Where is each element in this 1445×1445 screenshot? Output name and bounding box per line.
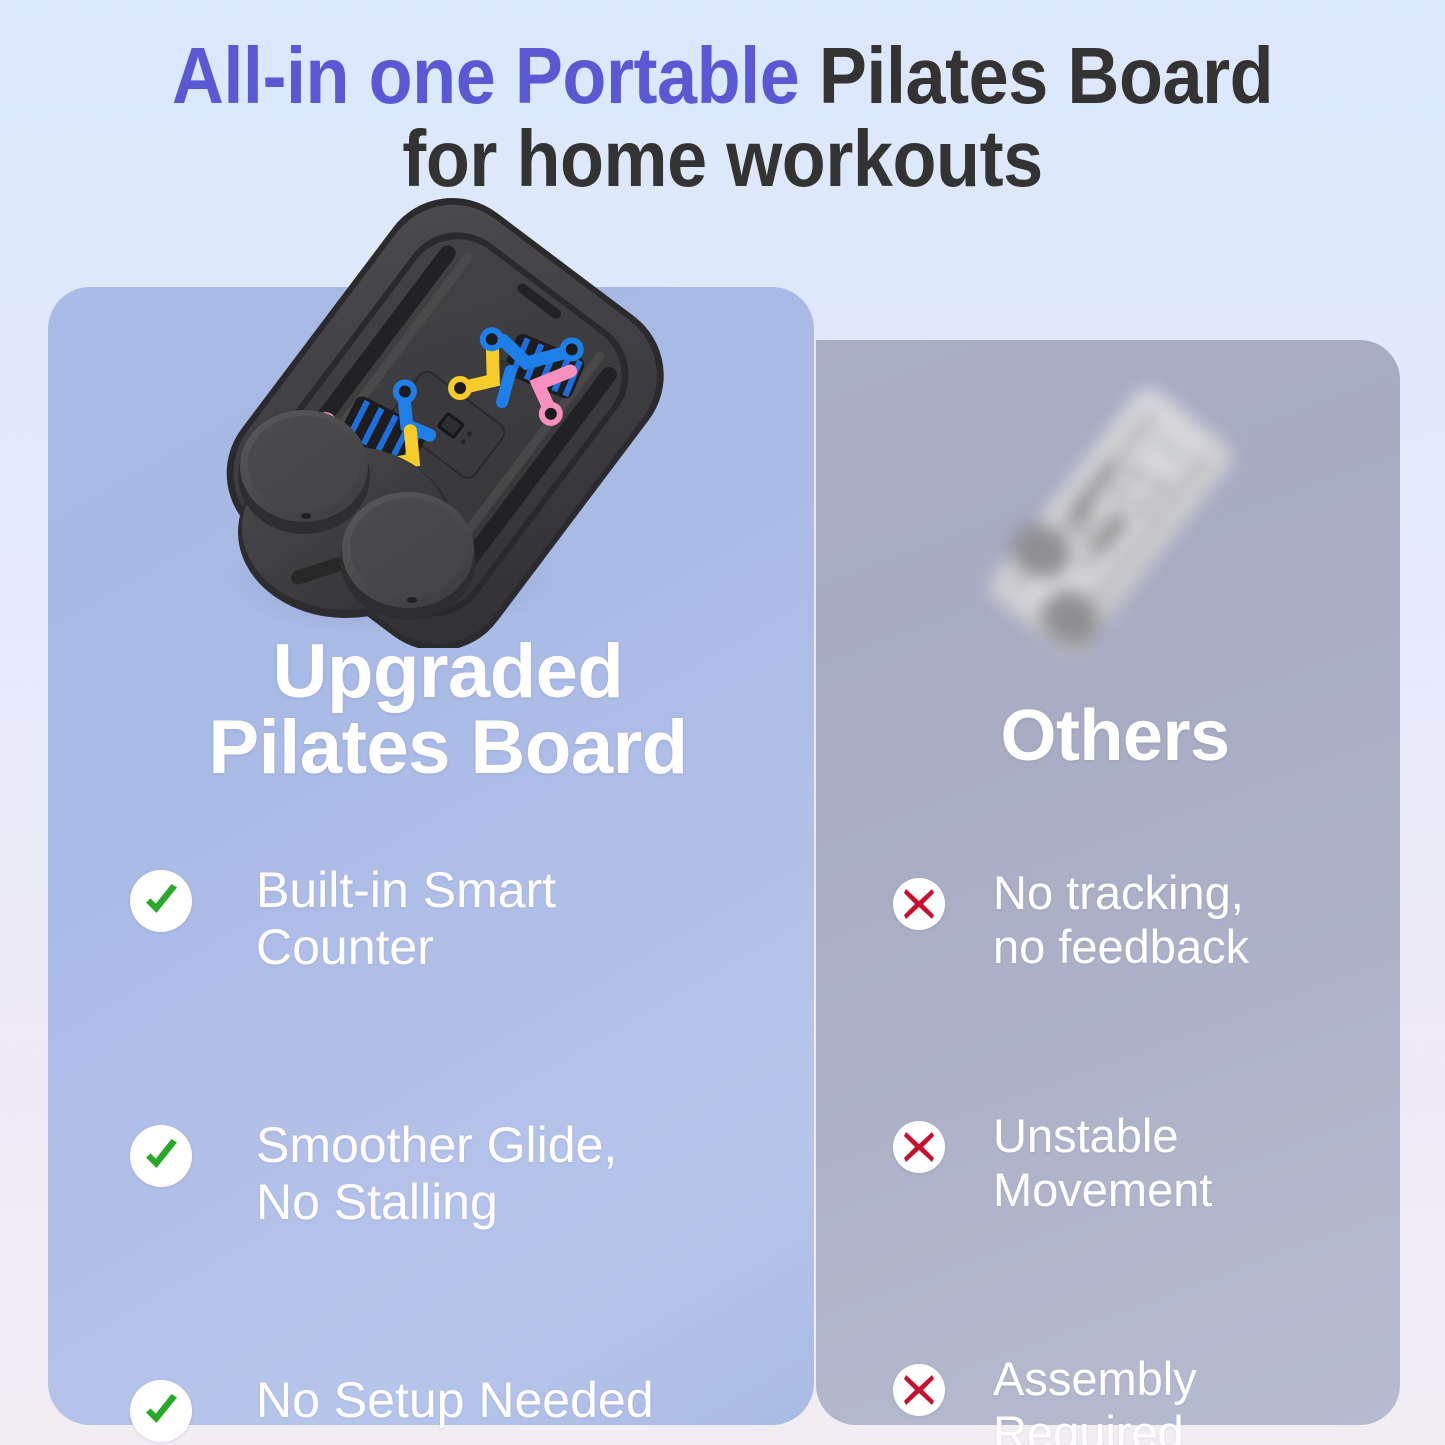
cross-icon xyxy=(893,1364,945,1416)
list-item-label-line-1: Unstable xyxy=(993,1109,1212,1163)
others-card-heading: Others xyxy=(816,700,1400,772)
upgraded-card-heading: Upgraded Pilates Board xyxy=(48,634,814,786)
cross-icon xyxy=(893,1121,945,1173)
check-icon xyxy=(130,870,192,932)
list-item: No tracking, no feedback xyxy=(893,866,1363,973)
others-card-heading-line-1: Others xyxy=(830,700,1400,772)
list-item-label-line-1: Built-in Smart xyxy=(256,862,556,919)
list-item-label: Smoother Glide, No Stalling xyxy=(256,1117,617,1231)
list-item: Unstable Movement xyxy=(893,1109,1363,1216)
slider-pad-lower xyxy=(340,492,476,620)
list-item: No Setup Needed xyxy=(130,1372,770,1442)
page-title-line-1: All-in one Portable Pilates Board xyxy=(72,34,1373,117)
cross-icon xyxy=(893,878,945,930)
slider-pad-upper xyxy=(238,410,370,534)
upgraded-card-heading-line-1: Upgraded xyxy=(82,634,814,710)
list-item: Smoother Glide, No Stalling xyxy=(130,1117,770,1231)
list-item-label-line-2: Required xyxy=(993,1406,1197,1445)
list-item-label: Assembly Required xyxy=(993,1352,1197,1445)
list-item: Built-in Smart Counter xyxy=(130,862,770,976)
list-item-label-line-2: No Stalling xyxy=(256,1174,617,1231)
list-item-label: No Setup Needed xyxy=(256,1372,654,1429)
upgraded-feature-list: Built-in Smart Counter Smoother Glide, N… xyxy=(130,862,770,1442)
list-item-label-line-2: no feedback xyxy=(993,920,1249,974)
list-item-label: No tracking, no feedback xyxy=(993,866,1249,973)
list-item-label-line-1: No Setup Needed xyxy=(256,1372,654,1429)
list-item-label: Built-in Smart Counter xyxy=(256,862,556,976)
others-feature-list: No tracking, no feedback Unstable Moveme… xyxy=(893,866,1363,1445)
list-item-label-line-1: No tracking, xyxy=(993,866,1249,920)
page-title-accent: All-in one Portable xyxy=(172,31,799,120)
check-icon xyxy=(130,1380,192,1442)
list-item: Assembly Required xyxy=(893,1352,1363,1445)
page-title-rest: Pilates Board xyxy=(799,31,1273,120)
list-item-label: Unstable Movement xyxy=(993,1109,1212,1216)
list-item-label-line-2: Counter xyxy=(256,919,556,976)
upgraded-card-heading-line-2: Pilates Board xyxy=(82,710,814,786)
page-title: All-in one Portable Pilates Board for ho… xyxy=(0,34,1445,200)
list-item-label-line-1: Smoother Glide, xyxy=(256,1117,617,1174)
check-icon xyxy=(130,1125,192,1187)
upgraded-pilates-board-photo xyxy=(170,188,730,648)
list-item-label-line-1: Assembly xyxy=(993,1352,1197,1406)
list-item-label-line-2: Movement xyxy=(993,1163,1212,1217)
competitor-pilates-board-photo-blurred xyxy=(955,372,1265,672)
